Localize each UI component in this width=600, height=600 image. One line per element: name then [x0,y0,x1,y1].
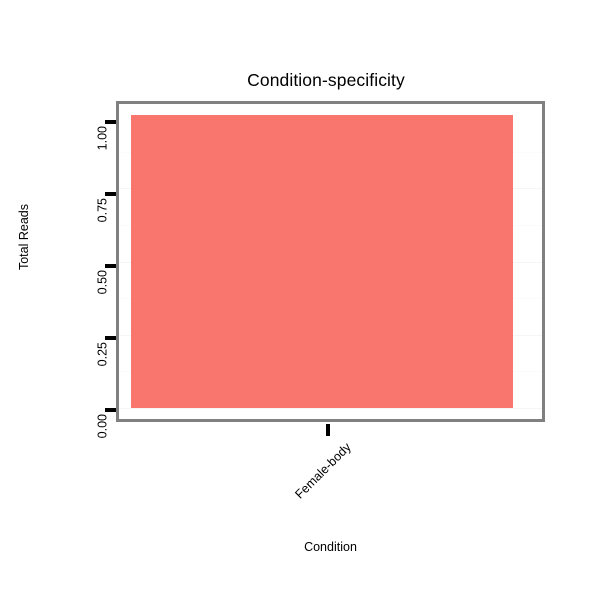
plot-panel [116,101,545,422]
y-tick-label-0.50: 0.50 [44,259,102,273]
y-axis-tick-mark [105,408,116,412]
y-tick-label-text: 0.00 [95,414,109,438]
y-tick-label-text: 1.00 [95,126,109,150]
chart-title: Condition-specificity [0,70,600,91]
gridline-major [119,408,542,409]
y-axis-tick-mark [105,120,116,124]
y-tick-label-text: 0.25 [95,342,109,366]
y-tick-label-0.25: 0.25 [44,331,102,345]
bar-female-body[interactable] [131,115,513,408]
x-axis-title: Condition [116,540,545,554]
y-tick-label-text: 0.50 [95,270,109,294]
y-axis-tick-mark [105,192,116,196]
y-tick-label-0.00: 0.00 [44,403,102,417]
chart-canvas: Condition-specificity Total Reads 1.00 0… [0,0,600,600]
x-tick-label-text: Female-body [292,440,353,501]
y-tick-label-1.00: 1.00 [44,115,102,129]
plot-panel-inner [119,104,542,419]
y-axis-tick-mark [105,336,116,340]
y-axis-tick-mark [105,264,116,268]
y-tick-label-text: 0.75 [95,198,109,222]
y-tick-label-0.75: 0.75 [44,187,102,201]
x-tick-label-female-body: Female-body [244,440,344,454]
x-axis-tick-mark [326,424,330,436]
y-axis-title: Total Reads [17,177,31,297]
